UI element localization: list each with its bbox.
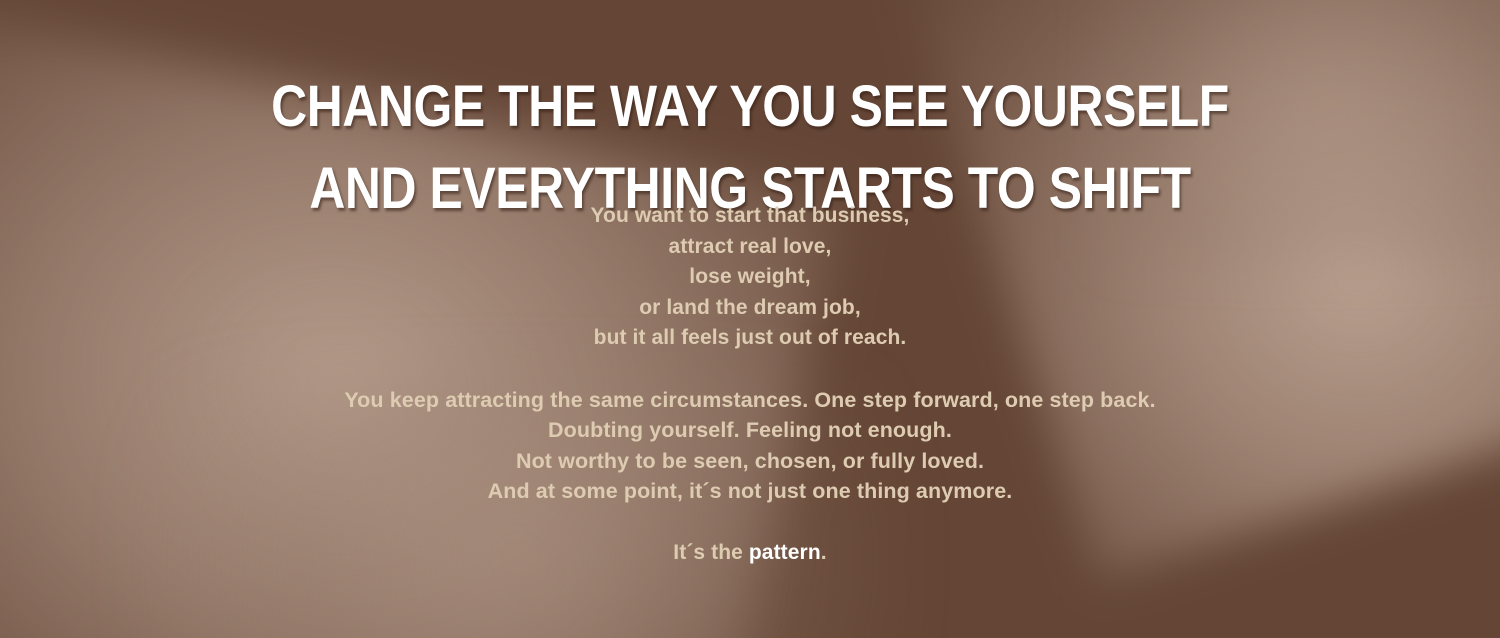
paragraph-desires-line-2: attract real love, <box>0 232 1500 263</box>
body-copy: You want to start that business, attract… <box>0 180 1500 589</box>
kicker-line: It´s the pattern. <box>0 538 1500 569</box>
paragraph-struggles-line-2: Doubting yourself. Feeling not enough. <box>0 415 1500 446</box>
paragraph-struggles-line-4: And at some point, it´s not just one thi… <box>0 476 1500 507</box>
paragraph-struggles-line-1: You keep attracting the same circumstanc… <box>0 385 1500 416</box>
paragraph-desires: You want to start that business, attract… <box>0 201 1500 354</box>
kicker-tail: . <box>821 541 827 564</box>
kicker-lead: It´s the <box>673 541 749 564</box>
paragraph-desires-line-1: You want to start that business, <box>0 201 1500 232</box>
slide-canvas: CHANGE THE WAY YOU SEE YOURSELF AND EVER… <box>0 0 1500 638</box>
paragraph-desires-line-3: lose weight, <box>0 262 1500 293</box>
slide-content: CHANGE THE WAY YOU SEE YOURSELF AND EVER… <box>0 0 1500 638</box>
paragraph-desires-line-5: but it all feels just out of reach. <box>0 323 1500 354</box>
kicker-emphasis: pattern <box>749 541 821 564</box>
headline-line-1: CHANGE THE WAY YOU SEE YOURSELF <box>105 86 1395 128</box>
paragraph-desires-line-4: or land the dream job, <box>0 293 1500 324</box>
paragraph-kicker: It´s the pattern. <box>0 538 1500 569</box>
paragraph-struggles-line-3: Not worthy to be seen, chosen, or fully … <box>0 446 1500 477</box>
paragraph-struggles: You keep attracting the same circumstanc… <box>0 385 1500 507</box>
